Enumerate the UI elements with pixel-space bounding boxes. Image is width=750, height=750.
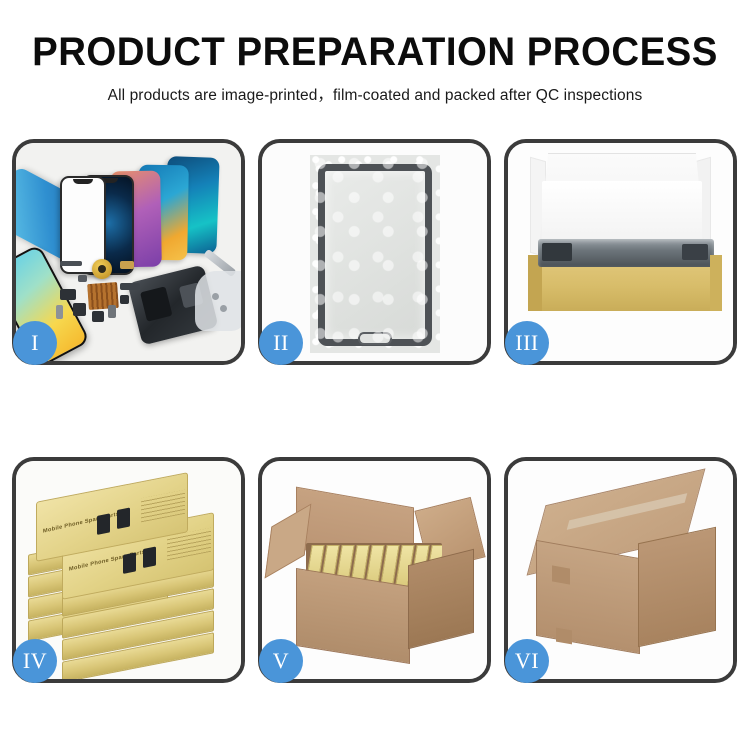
process-step-panel-1[interactable]: I bbox=[12, 139, 245, 365]
bubble-wrap-icon bbox=[310, 155, 440, 353]
screw-icon bbox=[220, 305, 227, 312]
box-phone-image-icon bbox=[117, 508, 130, 530]
spare-part-icon bbox=[120, 283, 140, 290]
page-title: PRODUCT PREPARATION PROCESS bbox=[15, 30, 735, 74]
gold-coil-part-icon bbox=[92, 259, 112, 279]
spare-part-icon bbox=[108, 305, 116, 318]
carton-side-panel-icon bbox=[408, 549, 474, 649]
box-spec-lines-icon bbox=[141, 490, 185, 523]
process-step-panel-5[interactable]: V bbox=[258, 457, 491, 683]
kraft-box-base-icon bbox=[528, 255, 722, 311]
step-badge-5: V bbox=[259, 639, 303, 683]
step-badge-3: III bbox=[505, 321, 549, 365]
process-step-panel-4[interactable]: Mobile Phone Spare Parts Mobile Phone Sp… bbox=[12, 457, 245, 683]
spare-part-icon bbox=[78, 275, 87, 282]
process-steps-grid: I II III bbox=[12, 139, 738, 683]
wrapped-product-icon bbox=[538, 239, 714, 267]
spare-part-icon bbox=[60, 289, 76, 300]
process-step-panel-6[interactable]: VI bbox=[504, 457, 737, 683]
spare-part-icon bbox=[56, 305, 63, 319]
step-badge-6: VI bbox=[505, 639, 549, 683]
step-badge-4: IV bbox=[13, 639, 57, 683]
box-stack-icon: Mobile Phone Spare Parts Mobile Phone Sp… bbox=[22, 479, 240, 669]
spare-part-icon bbox=[73, 303, 86, 316]
carton-flap-left-icon bbox=[265, 504, 312, 579]
spare-part-icon bbox=[120, 295, 129, 304]
box-phone-image-icon bbox=[143, 547, 156, 569]
spare-part-icon bbox=[92, 311, 104, 322]
process-step-panel-3[interactable]: III bbox=[504, 139, 737, 365]
screw-icon bbox=[212, 293, 219, 300]
carton-tab-icon bbox=[552, 565, 570, 584]
spare-part-icon bbox=[120, 261, 134, 269]
hand-icon bbox=[195, 271, 241, 331]
sealed-carton-side-icon bbox=[638, 527, 716, 648]
box-phone-image-icon bbox=[123, 552, 136, 574]
step-badge-1: I bbox=[13, 321, 57, 365]
step-badge-2: II bbox=[259, 321, 303, 365]
box-phone-image-icon bbox=[97, 513, 110, 535]
carton-tab-icon bbox=[556, 628, 572, 645]
spare-part-icon bbox=[60, 261, 82, 266]
page-subtitle: All products are image-printed，film-coat… bbox=[0, 83, 750, 105]
sealed-carton-front-icon bbox=[536, 540, 640, 654]
phone-notch-icon bbox=[73, 179, 93, 184]
carton-front-panel-icon bbox=[296, 568, 410, 664]
process-step-panel-2[interactable]: II bbox=[258, 139, 491, 365]
page-header: PRODUCT PREPARATION PROCESS All products… bbox=[0, 0, 750, 105]
phone-screen-icon bbox=[318, 164, 432, 346]
